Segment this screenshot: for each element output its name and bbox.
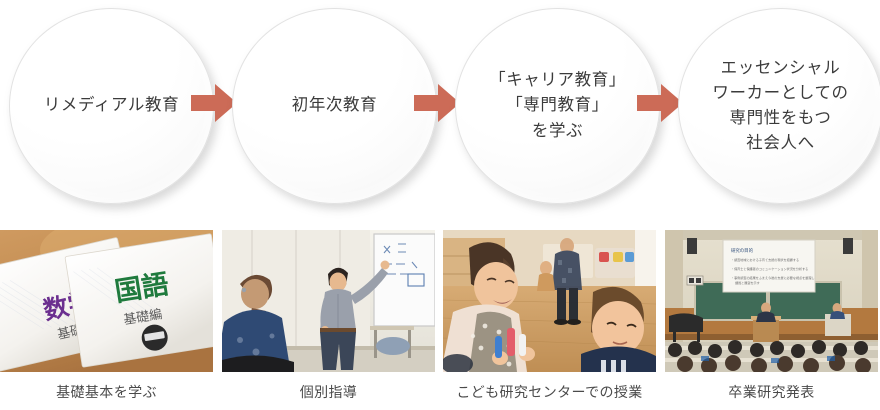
arrow-right-icon — [191, 82, 237, 124]
arrow-right-icon — [637, 82, 683, 124]
photo-gallery: 数学 基礎編 国語 基礎編 — [0, 230, 880, 410]
gallery-item-textbooks: 数学 基礎編 国語 基礎編 — [0, 230, 213, 401]
svg-text:研究の目的: 研究の目的 — [731, 247, 754, 254]
flow-step-essential-worker: エッセンシャル ワーカーとしての 専門性をもつ 社会人へ — [678, 8, 880, 204]
gallery-caption: 卒業研究発表 — [665, 384, 878, 401]
svg-text:・調査地域における子育て支援の現状を把握する: ・調査地域における子育て支援の現状を把握する — [731, 257, 799, 262]
flow-step-first-year: 初年次教育 — [232, 8, 437, 204]
flow-step-career: 「キャリア教育」 「専門教育」 を学ぶ — [455, 8, 660, 204]
flow-diagram: リメディアル教育 初年次教育 「キャリア教育」 「専門教育」 を学ぶ エッセンシ… — [0, 0, 880, 215]
photo-lecture-hall: 研究の目的 ・調査地域における子育て支援の現状を把握する ・保育士と保護者のコミ… — [665, 230, 878, 372]
arrow-right-icon — [414, 82, 460, 124]
photo-whiteboard — [222, 230, 435, 372]
gallery-caption: こども研究センターでの授業 — [443, 384, 656, 401]
svg-text:・保育士と保護者のコミュニケーション状況を分析する: ・保育士と保護者のコミュニケーション状況を分析する — [731, 266, 808, 271]
gallery-caption: 個別指導 — [222, 384, 435, 401]
svg-text:・事例調査の結果をふまえ今後の支援に必要な視点を整理し: ・事例調査の結果をふまえ今後の支援に必要な視点を整理し — [731, 275, 815, 280]
flow-step-label: 初年次教育 — [278, 93, 392, 118]
gallery-caption: 基礎基本を学ぶ — [0, 384, 213, 401]
svg-text:課題と展望を示す: 課題と展望を示す — [735, 280, 760, 285]
flow-step-label: 「キャリア教育」 「専門教育」 を学ぶ — [475, 68, 640, 143]
photo-childcare — [443, 230, 656, 372]
gallery-item-lecture-hall: 研究の目的 ・調査地域における子育て支援の現状を把握する ・保育士と保護者のコミ… — [665, 230, 878, 401]
flow-step-remedial: リメディアル教育 — [9, 8, 214, 204]
gallery-item-childcare: こども研究センターでの授業 — [443, 230, 656, 401]
gallery-item-whiteboard: 個別指導 — [222, 230, 435, 401]
education-flow-infographic: リメディアル教育 初年次教育 「キャリア教育」 「専門教育」 を学ぶ エッセンシ… — [0, 0, 880, 410]
flow-step-label: リメディアル教育 — [30, 93, 193, 118]
flow-step-label: エッセンシャル ワーカーとしての 専門性をもつ 社会人へ — [698, 56, 862, 156]
photo-textbooks: 数学 基礎編 国語 基礎編 — [0, 230, 213, 372]
